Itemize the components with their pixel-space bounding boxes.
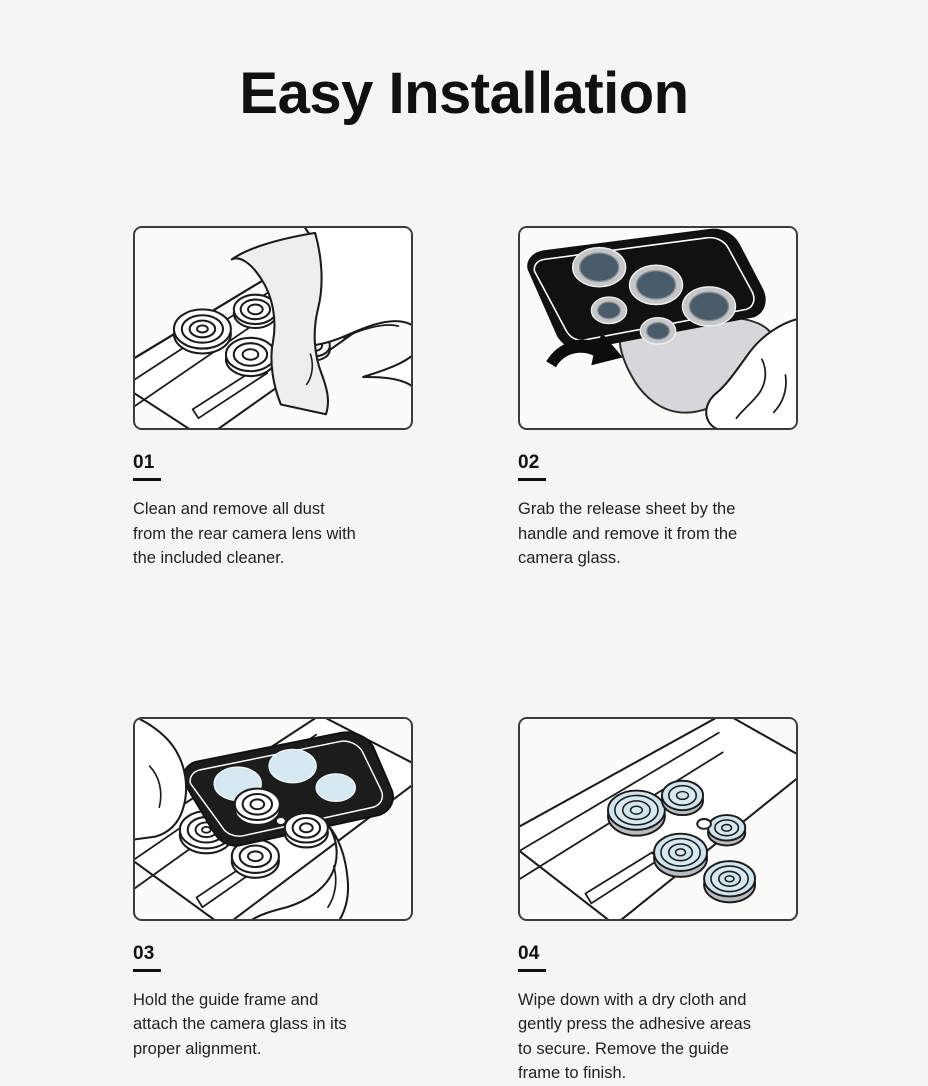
step-number-rule-01	[133, 478, 161, 481]
lens-top	[662, 780, 703, 814]
step-number-rule-02	[518, 478, 546, 481]
step-text-02: Grab the release sheet by the handle and…	[518, 497, 803, 571]
steps-row-top: 01 Clean and remove all dust from the re…	[133, 226, 813, 571]
step-illustration-02	[518, 226, 798, 430]
step-card-03: 03 Hold the guide frame and attach the c…	[133, 717, 413, 1086]
steps-row-bottom: 03 Hold the guide frame and attach the c…	[133, 717, 813, 1086]
step-number-rule-04	[518, 969, 546, 972]
step-illustration-04	[518, 717, 798, 921]
step-text-01: Clean and remove all dust from the rear …	[133, 497, 418, 571]
installation-steps-grid: 01 Clean and remove all dust from the re…	[133, 226, 813, 1086]
step-number-rule-03	[133, 969, 161, 972]
step-number-03: 03	[133, 943, 155, 965]
lens-mid-lower	[226, 338, 275, 376]
step-number-01: 01	[133, 452, 155, 474]
lens-large	[174, 309, 231, 353]
step-text-04: Wipe down with a dry cloth and gently pr…	[518, 988, 803, 1086]
step-card-02: 02 Grab the release sheet by the handle …	[518, 226, 798, 571]
step-illustration-03	[133, 717, 413, 921]
step-card-01: 01 Clean and remove all dust from the re…	[133, 226, 413, 571]
lens-upper-mid	[608, 790, 665, 835]
lens-right-small	[708, 815, 745, 845]
step-card-04: 04 Wipe down with a dry cloth and gently…	[518, 717, 798, 1086]
lens-bottom-right	[704, 861, 755, 902]
flash-sensor	[697, 819, 711, 829]
step-number-04: 04	[518, 943, 540, 965]
step-number-02: 02	[518, 452, 540, 474]
page-title: Easy Installation	[0, 58, 928, 130]
step-illustration-01	[133, 226, 413, 430]
step-text-03: Hold the guide frame and attach the came…	[133, 988, 418, 1062]
lens-lower-mid	[654, 833, 707, 876]
